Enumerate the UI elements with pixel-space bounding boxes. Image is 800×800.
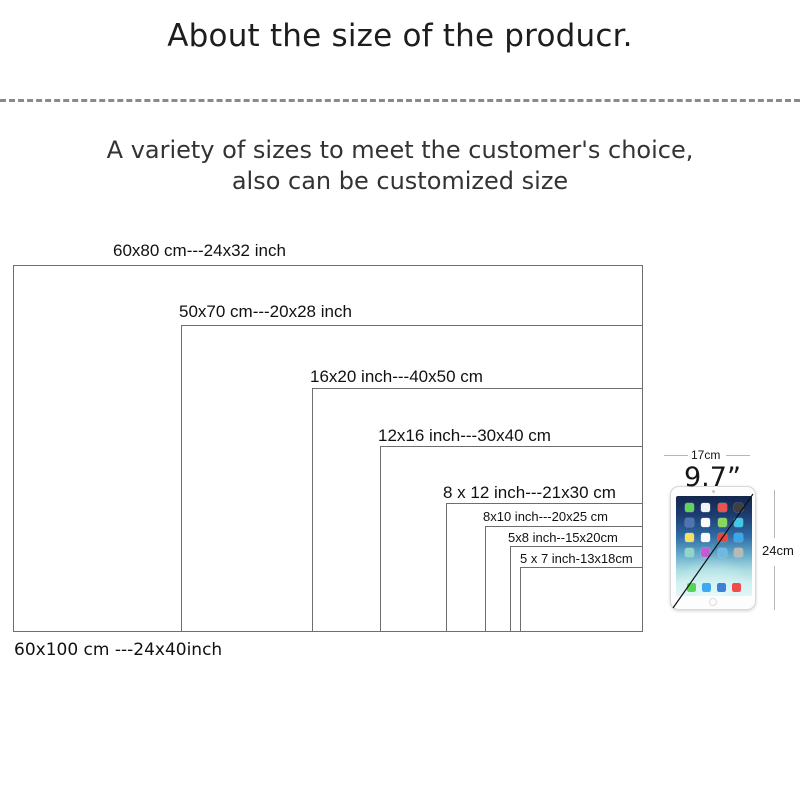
ipad-diagonal-label: 9.7”: [684, 462, 741, 493]
app-icon: [685, 548, 694, 557]
dock-icon: [702, 583, 711, 592]
ipad-dock: [684, 583, 744, 592]
dock-icon: [717, 583, 726, 592]
app-icon: [718, 518, 727, 527]
app-icon: [701, 503, 710, 512]
ipad-height-label: 24cm: [762, 543, 794, 558]
width-measure-line-left: [664, 455, 688, 456]
ipad-screen: [676, 496, 752, 596]
size-label: 12x16 inch---30x40 cm: [378, 426, 551, 446]
ipad-app-grid: [681, 503, 747, 563]
size-label: 5x8 inch--15x20cm: [508, 530, 618, 545]
size-label: 8 x 12 inch---21x30 cm: [443, 483, 616, 503]
ipad-width-label: 17cm: [691, 448, 720, 462]
app-icon: [734, 518, 743, 527]
size-rect: [520, 567, 643, 632]
ipad-home-button-icon: [709, 598, 717, 606]
size-label: 8x10 inch---20x25 cm: [483, 509, 608, 524]
app-icon: [685, 503, 694, 512]
app-icon: [734, 533, 743, 542]
app-icon: [734, 503, 743, 512]
app-icon: [685, 533, 694, 542]
app-icon: [734, 548, 743, 557]
app-icon: [718, 533, 727, 542]
width-measure-line-right: [726, 455, 750, 456]
size-label: 5 x 7 inch-13x18cm: [520, 551, 633, 566]
bottom-size-caption: 60x100 cm ---24x40inch: [14, 640, 222, 660]
size-comparison-diagram: 60x80 cm---24x32 inch50x70 cm---20x28 in…: [0, 0, 800, 800]
app-icon: [701, 533, 710, 542]
app-icon: [701, 548, 710, 557]
app-icon: [701, 518, 710, 527]
height-measure-line-bottom: [774, 566, 775, 610]
app-icon: [685, 518, 694, 527]
size-label: 16x20 inch---40x50 cm: [310, 367, 483, 387]
size-label: 60x80 cm---24x32 inch: [113, 241, 286, 261]
size-label: 50x70 cm---20x28 inch: [179, 302, 352, 322]
height-measure-line-top: [774, 490, 775, 538]
app-icon: [718, 548, 727, 557]
dock-icon: [687, 583, 696, 592]
ipad-body: [670, 486, 756, 610]
app-icon: [718, 503, 727, 512]
dock-icon: [732, 583, 741, 592]
